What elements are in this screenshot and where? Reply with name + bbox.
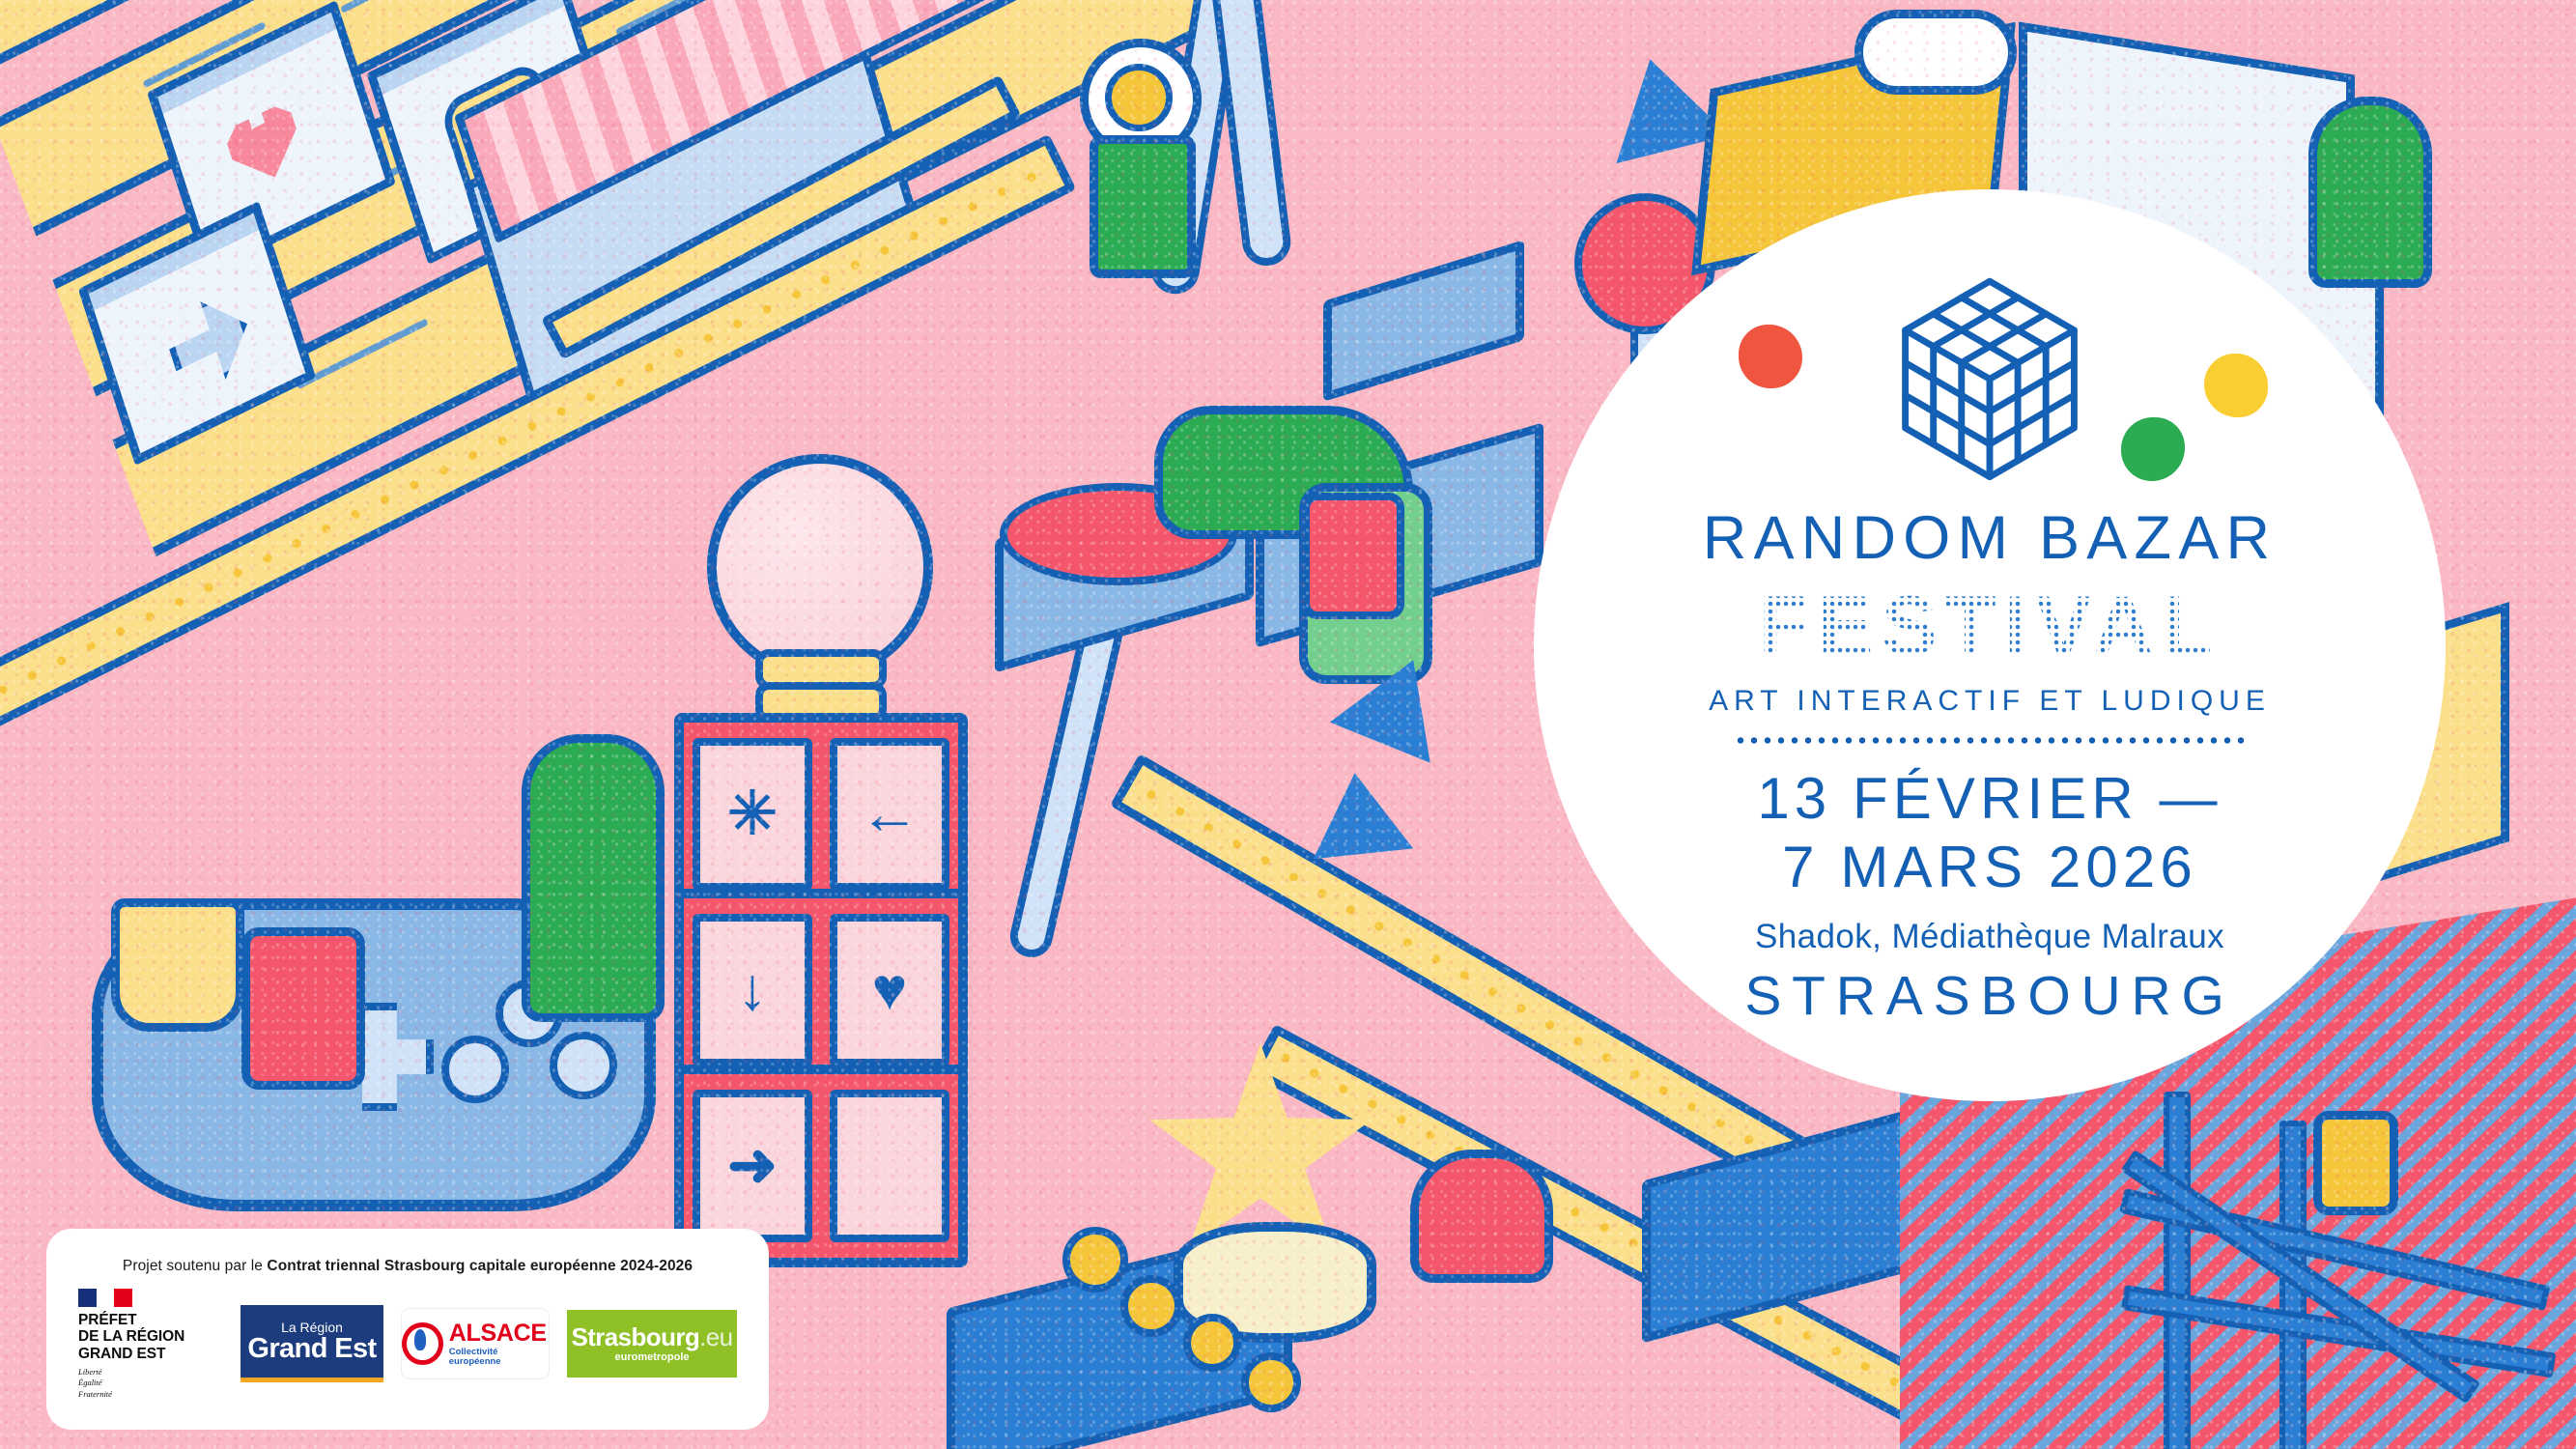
- red-dot-icon: [1739, 325, 1802, 388]
- festival-tagline: ART INTERACTIF ET LUDIQUE: [1709, 687, 2271, 716]
- totem-face-blank: [830, 1090, 949, 1242]
- festival-city: STRASBOURG: [1744, 969, 2234, 1024]
- yellow-dot-icon: [2204, 354, 2268, 417]
- chick: [1183, 1314, 1241, 1372]
- alsace-mark-icon: [402, 1322, 443, 1365]
- strasbourg-line-1: Strasbourg: [571, 1322, 699, 1351]
- strasbourg-line-1-suffix: .eu: [699, 1322, 732, 1351]
- alsace-line-1: ALSACE: [449, 1320, 547, 1347]
- motto-liberte: Liberté: [78, 1367, 223, 1378]
- interactive-totem: ✳ ← ↓ ♥ ➜: [666, 454, 956, 1227]
- character-yellow-dress: [111, 898, 244, 1032]
- person-on-scaffold: [2313, 1111, 2398, 1215]
- totem-face-down-arrow: ↓: [693, 914, 812, 1066]
- cat-character: [1854, 10, 2017, 95]
- totem-orb: [707, 454, 933, 680]
- festival-date-line-2: 7 MARS 2026: [1782, 834, 2197, 902]
- green-dot-icon: [2121, 417, 2185, 481]
- logo-prefet-region-grand-est: PRÉFET DE LA RÉGION GRAND EST Liberté Ég…: [78, 1289, 223, 1400]
- logo-alsace: ALSACE Collectivité européenne: [401, 1308, 550, 1379]
- french-flag-icon: [78, 1289, 132, 1307]
- festival-venue: Shadok, Médiathèque Malraux: [1755, 920, 2224, 953]
- totem-face-heart: ♥: [830, 914, 949, 1066]
- daisy-face: [1105, 64, 1173, 131]
- plant: [2308, 97, 2432, 288]
- festival-date-line-1: 13 FÉVRIER —: [1757, 765, 2222, 834]
- octopus-character: [1410, 1150, 1553, 1283]
- prefet-line-3: GRAND EST: [78, 1346, 223, 1362]
- festival-poster: ✳ ← ↓ ♥ ➜: [0, 0, 2576, 1449]
- sponsor-card: Projet soutenu par le Contrat triennal S…: [46, 1229, 769, 1430]
- scaffolding-beam: [2164, 1092, 2191, 1449]
- totem-face-asterisk: ✳: [693, 738, 812, 891]
- chick: [1062, 1227, 1128, 1293]
- festival-logo-badge: RANDOM BAZAR FESTIVAL ART INTERACTIF ET …: [1534, 189, 2446, 1101]
- prefet-line-1: PRÉFET: [78, 1312, 223, 1328]
- logo-strasbourg-eu: Strasbourg.eu eurometropole: [567, 1310, 737, 1378]
- grandest-line-1: La Région: [281, 1321, 343, 1334]
- isometric-cube-logo: [1869, 272, 2110, 495]
- motto-egalite: Égalité: [78, 1378, 223, 1388]
- dino-character: [522, 734, 665, 1022]
- chick: [1241, 1352, 1301, 1412]
- daisy-body: [1090, 135, 1196, 278]
- grandest-line-2: Grand Est: [247, 1335, 376, 1363]
- alsace-line-2: Collectivité européenne: [449, 1348, 549, 1366]
- platform-box: [1323, 240, 1524, 402]
- logo-lockup: [1719, 272, 2260, 495]
- character-red-coat: [241, 927, 365, 1090]
- totem-face-left-arrow: ←: [830, 738, 949, 891]
- sponsor-note-prefix: Projet soutenu par le: [123, 1258, 268, 1274]
- arrow-down-icon: ↓: [738, 960, 768, 1020]
- sponsor-note: Projet soutenu par le Contrat triennal S…: [46, 1258, 769, 1275]
- motto-fraternite: Fraternité: [78, 1389, 223, 1400]
- asterisk-icon: ✳: [727, 784, 778, 844]
- sponsor-logo-row: PRÉFET DE LA RÉGION GRAND EST Liberté Ég…: [46, 1289, 769, 1400]
- crocodile-vest: [1302, 493, 1404, 619]
- festival-title: RANDOM BAZAR: [1703, 508, 2277, 569]
- dotted-divider: [1734, 737, 2246, 744]
- arrow-right-icon: ➜: [727, 1136, 778, 1196]
- totem-segment: ✳ ←: [674, 713, 968, 916]
- strasbourg-line-2: eurometropole: [614, 1352, 689, 1363]
- totem-face-right-arrow: ➜: [693, 1090, 812, 1242]
- arrow-left-icon: ←: [860, 784, 920, 844]
- prefet-line-2: DE LA RÉGION: [78, 1328, 223, 1345]
- festival-subtitle: FESTIVAL: [1759, 584, 2221, 668]
- triangle-shape: [1305, 768, 1413, 859]
- logo-la-region-grand-est: La Région Grand Est: [241, 1305, 383, 1382]
- sponsor-note-strong: Contrat triennal Strasbourg capitale eur…: [267, 1258, 693, 1274]
- chick: [1120, 1275, 1182, 1337]
- heart-icon: ♥: [872, 960, 908, 1020]
- totem-segment: ↓ ♥: [674, 889, 968, 1092]
